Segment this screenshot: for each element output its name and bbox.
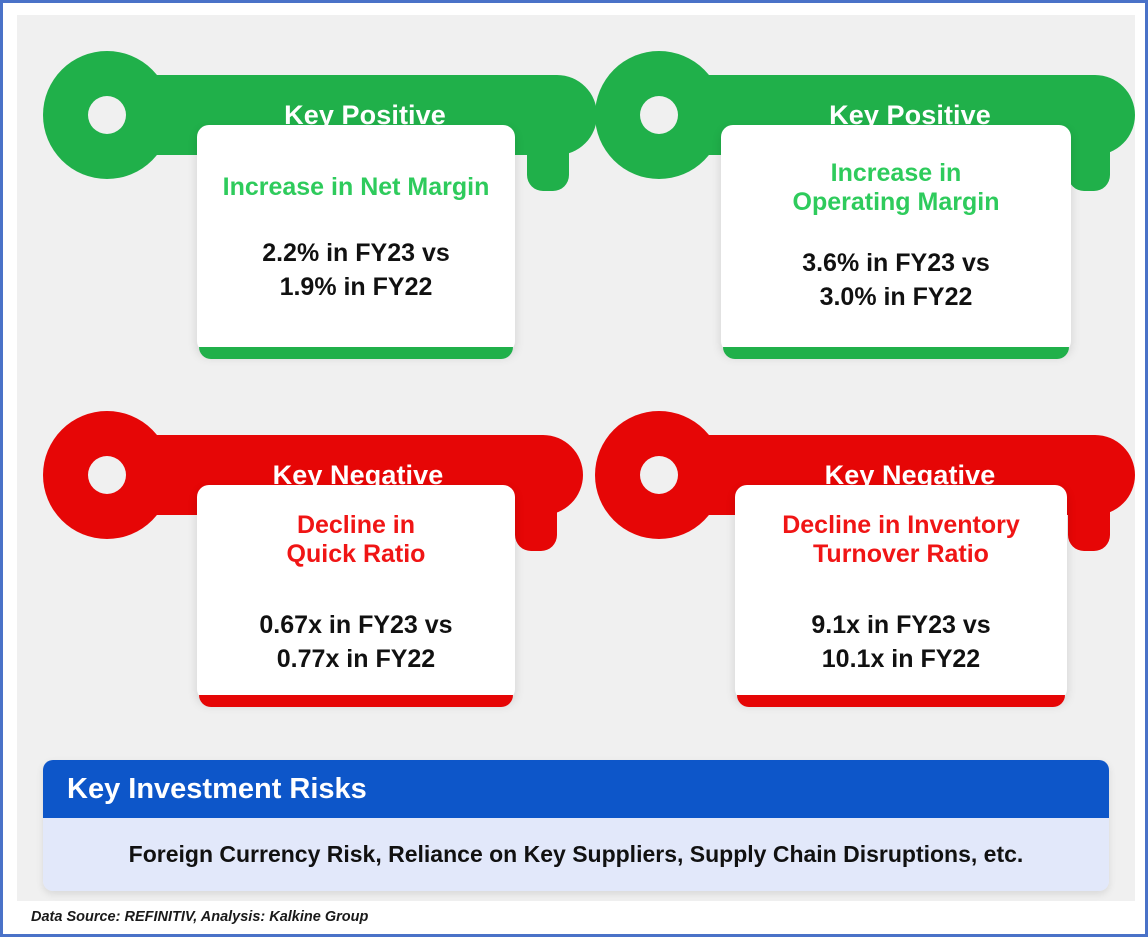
data-source-note: Data Source: REFINITIV, Analysis: Kalkin…: [31, 909, 368, 925]
infographic-page: Key Positive Increase in Net Margin 2.2%…: [0, 0, 1148, 937]
card-title: Increase in Net Margin: [223, 173, 490, 202]
key-tooth-icon: [515, 511, 557, 551]
card-title: Increase in Operating Margin: [793, 159, 1000, 218]
key-tooth-icon: [1068, 511, 1110, 551]
card-values: 0.67x in FY23 vs 0.77x in FY22: [259, 608, 452, 676]
key-investment-risks-panel: Key Investment Risks Foreign Currency Ri…: [43, 760, 1109, 891]
risks-body: Foreign Currency Risk, Reliance on Key S…: [43, 818, 1109, 891]
card-values: 2.2% in FY23 vs 1.9% in FY22: [262, 236, 450, 304]
infographic-canvas: Key Positive Increase in Net Margin 2.2%…: [17, 15, 1135, 901]
card-title: Decline in Inventory Turnover Ratio: [782, 511, 1020, 570]
key-unit-quick-ratio: Key Negative Decline in Quick Ratio 0.67…: [43, 393, 603, 723]
card-inventory-turnover: Decline in Inventory Turnover Ratio 9.1x…: [735, 485, 1067, 701]
card-accent-bar: [199, 695, 513, 707]
card-values: 9.1x in FY23 vs 10.1x in FY22: [811, 608, 990, 676]
key-head-hole-icon: [640, 456, 678, 494]
key-tooth-icon: [1068, 151, 1110, 191]
card-quick-ratio: Decline in Quick Ratio 0.67x in FY23 vs …: [197, 485, 515, 701]
risks-heading: Key Investment Risks: [67, 773, 367, 806]
key-tooth-icon: [527, 151, 569, 191]
card-title: Decline in Quick Ratio: [287, 511, 426, 570]
risks-body-text: Foreign Currency Risk, Reliance on Key S…: [129, 841, 1024, 868]
key-head-hole-icon: [640, 96, 678, 134]
key-head-hole-icon: [88, 96, 126, 134]
key-unit-operating-margin: Key Positive Increase in Operating Margi…: [595, 33, 1135, 363]
key-head-hole-icon: [88, 456, 126, 494]
key-unit-net-margin: Key Positive Increase in Net Margin 2.2%…: [43, 33, 603, 363]
card-accent-bar: [723, 347, 1069, 359]
card-accent-bar: [737, 695, 1065, 707]
card-operating-margin: Increase in Operating Margin 3.6% in FY2…: [721, 125, 1071, 353]
card-values: 3.6% in FY23 vs 3.0% in FY22: [802, 246, 990, 314]
card-accent-bar: [199, 347, 513, 359]
card-net-margin: Increase in Net Margin 2.2% in FY23 vs 1…: [197, 125, 515, 353]
key-unit-inventory-turnover: Key Negative Decline in Inventory Turnov…: [595, 393, 1135, 723]
risks-header: Key Investment Risks: [43, 760, 1109, 818]
